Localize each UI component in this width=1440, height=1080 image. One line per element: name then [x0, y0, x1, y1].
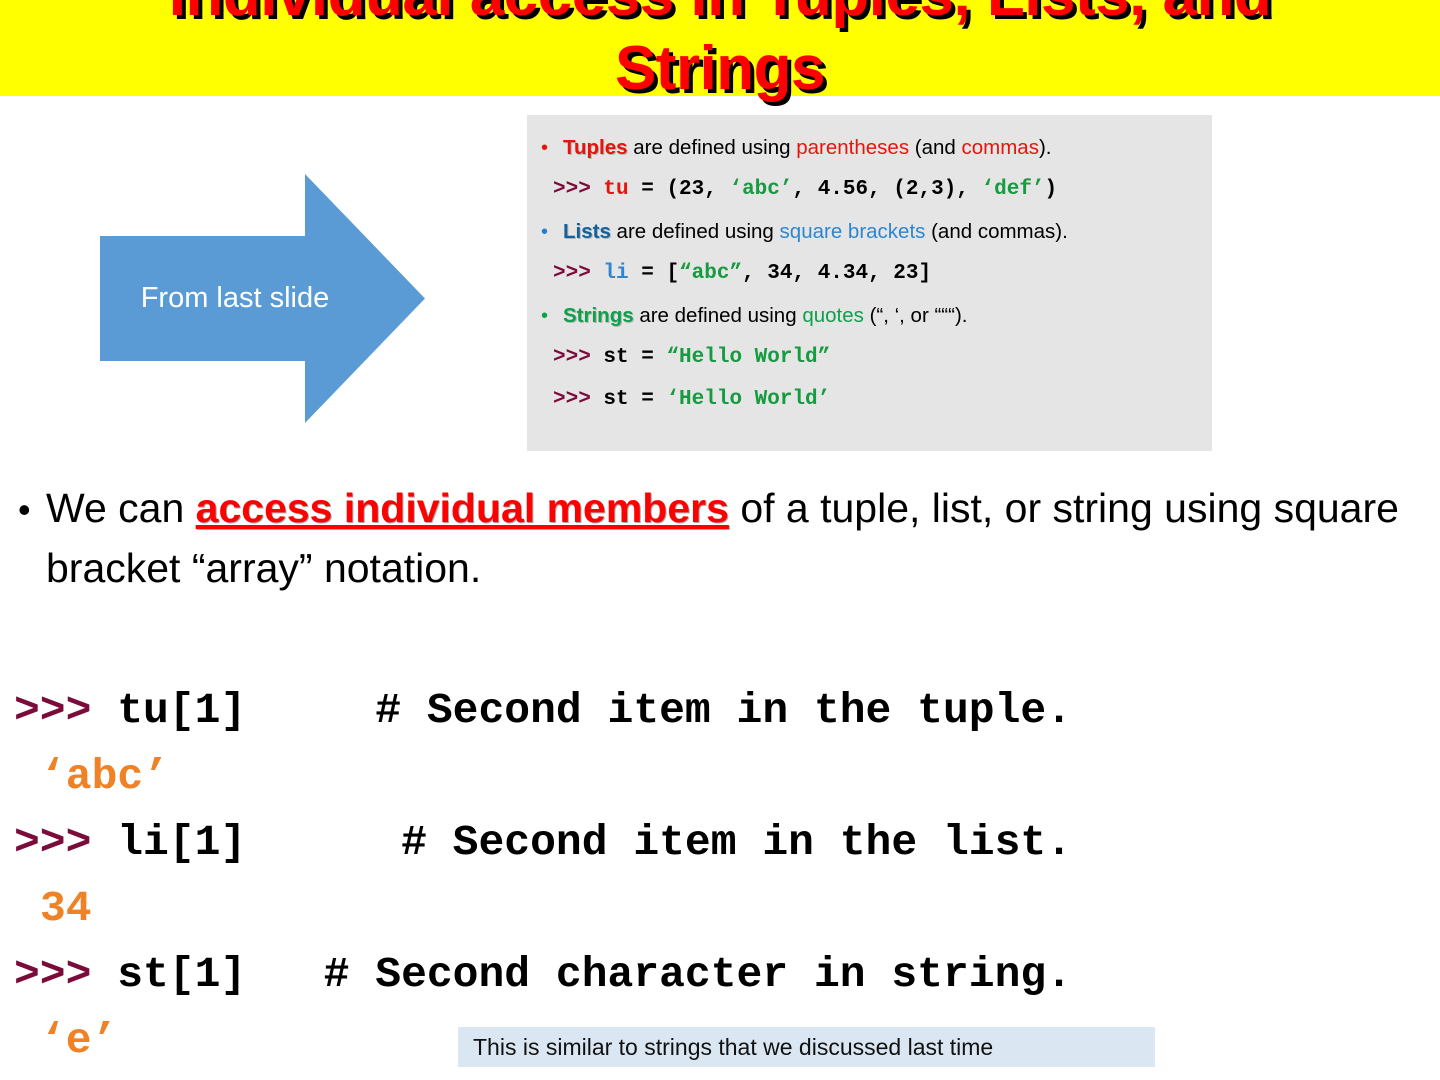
recap-segment: st = [603, 346, 666, 369]
repl-prompt: >>> [14, 950, 117, 999]
recap-code-box: •Tuples are defined using parentheses (a… [527, 115, 1212, 451]
recap-segment: ‘def’ [982, 178, 1045, 201]
recap-segment: “Hello World” [666, 346, 830, 369]
recap-segment: ‘abc’ [729, 178, 792, 201]
main-bullet-before: We can [46, 485, 196, 531]
repl-comment: # Second item in the list. [246, 818, 1072, 867]
repl-prompt: >>> [14, 686, 117, 735]
recap-segment: >>> [553, 262, 603, 285]
repl-code: li[1] [117, 818, 246, 867]
repl-code: st[1] [117, 950, 246, 999]
recap-segment: square brackets [780, 220, 926, 243]
bullet-glyph: • [18, 480, 31, 540]
recap-segment: = [ [629, 262, 679, 285]
recap-segment: ) [1045, 178, 1058, 201]
bullet-marker: • [541, 211, 563, 253]
recap-segment: are defined using [628, 136, 797, 159]
recap-segment: (and [909, 136, 961, 159]
main-bullet: • We can access individual members of a … [14, 478, 1414, 598]
page-title: Individual access in Tuples, Lists, and … [0, 0, 1440, 106]
main-bullet-emphasis: access individual members [196, 485, 729, 531]
repl-output-row: ‘abc’ [14, 744, 1414, 810]
recap-segment: tu [603, 178, 628, 201]
repl-block: >>> tu[1] # Second item in the tuple.‘ab… [14, 678, 1414, 1074]
repl-rows: >>> tu[1] # Second item in the tuple.‘ab… [14, 678, 1414, 1074]
repl-output-value: ‘e’ [14, 1016, 117, 1065]
repl-output-value: ‘abc’ [14, 752, 169, 801]
repl-input-row: >>> li[1] # Second item in the list. [14, 810, 1414, 876]
recap-segment: Lists [563, 220, 611, 243]
recap-bullet-line: •Strings are defined using quotes (“, ‘,… [541, 295, 1198, 337]
repl-input-row: >>> st[1] # Second character in string. [14, 942, 1414, 1008]
repl-output-value: 34 [14, 884, 92, 933]
recap-segment: ‘Hello World’ [666, 388, 830, 411]
repl-code: tu[1] [117, 686, 246, 735]
recap-segment: “abc” [679, 262, 742, 285]
recap-segment: li [603, 262, 628, 285]
recap-segment: >>> [553, 388, 603, 411]
recap-segment: ). [1039, 136, 1052, 159]
recap-segment: are defined using [634, 304, 803, 327]
recap-bullet-line: •Lists are defined using square brackets… [541, 211, 1198, 253]
recap-code-line: >>> li = [“abc”, 34, 4.34, 23] [541, 253, 1198, 295]
bullet-marker: • [541, 127, 563, 169]
recap-segment: = (23, [629, 178, 730, 201]
recap-segment: (and commas). [925, 220, 1067, 243]
recap-segment: , 4.56, (2,3), [792, 178, 981, 201]
recap-segment: , 34, 4.34, 23] [742, 262, 931, 285]
recap-segment: are defined using [611, 220, 780, 243]
bullet-marker: • [541, 295, 563, 337]
recap-segment: commas [962, 136, 1039, 159]
recap-code-line: >>> tu = (23, ‘abc’, 4.56, (2,3), ‘def’) [541, 169, 1198, 211]
recap-segment: >>> [553, 346, 603, 369]
repl-prompt: >>> [14, 818, 117, 867]
recap-bullet-line: •Tuples are defined using parentheses (a… [541, 127, 1198, 169]
main-bullet-body: We can access individual members of a tu… [14, 478, 1414, 598]
footer-note: This is similar to strings that we discu… [458, 1027, 1155, 1067]
recap-segment: >>> [553, 178, 603, 201]
repl-comment: # Second character in string. [246, 950, 1072, 999]
recap-code-line: >>> st = “Hello World” [541, 337, 1198, 379]
recap-segment: quotes [802, 304, 864, 327]
recap-lines: •Tuples are defined using parentheses (a… [541, 127, 1198, 421]
repl-comment: # Second item in the tuple. [246, 686, 1072, 735]
recap-code-line: >>> st = ‘Hello World’ [541, 379, 1198, 421]
repl-input-row: >>> tu[1] # Second item in the tuple. [14, 678, 1414, 744]
recap-segment: Tuples [563, 136, 628, 159]
from-last-slide-arrow: From last slide [100, 174, 425, 423]
recap-segment: (“, ‘, or “““). [864, 304, 968, 327]
footer-note-text: This is similar to strings that we discu… [473, 1034, 993, 1061]
recap-segment: Strings [563, 304, 634, 327]
recap-segment: st = [603, 388, 666, 411]
repl-output-row: 34 [14, 876, 1414, 942]
recap-segment: parentheses [796, 136, 909, 159]
right-arrow-icon [100, 174, 425, 423]
